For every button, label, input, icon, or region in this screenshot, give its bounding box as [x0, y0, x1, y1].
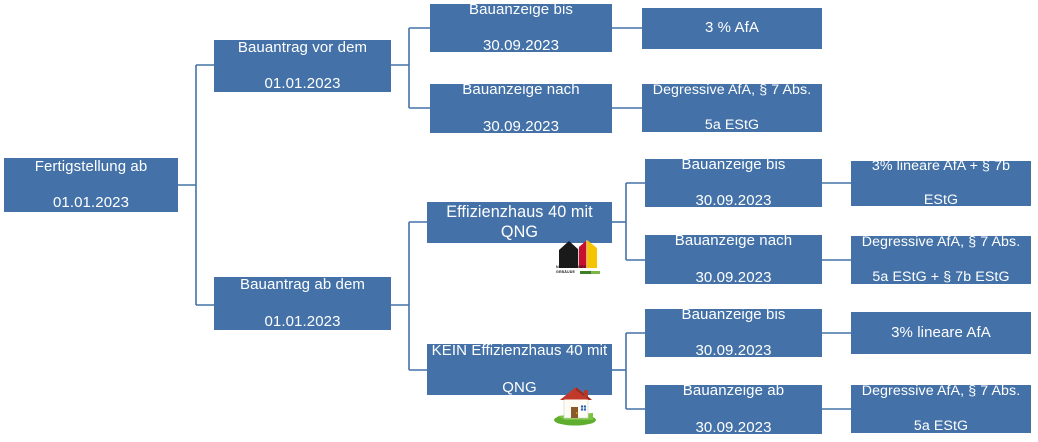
node-text-line1: Bauanzeige nach	[434, 81, 608, 99]
node-bauanzeige-nach-30-09-2023-a[interactable]: Bauanzeige nach 30.09.2023	[430, 84, 612, 133]
node-text-line2: 30.09.2023	[434, 118, 608, 136]
node-text-line1: Bauanzeige nach	[649, 232, 818, 250]
qng-logo-green-bar	[580, 271, 600, 274]
node-bauantrag-vor-dem-01-01-2023[interactable]: Bauantrag vor dem 01.01.2023	[214, 40, 391, 92]
node-text-line2: EStG	[855, 192, 1027, 209]
node-text-line2: 5a EStG	[646, 117, 818, 134]
node-text-line2: 01.01.2023	[8, 194, 174, 212]
node-result-degressive-afa-plus-7b-estg[interactable]: Degressive AfA, § 7 Abs. 5a EStG + § 7b …	[851, 236, 1031, 284]
node-fertigstellung-ab-2023[interactable]: Fertigstellung ab 01.01.2023	[4, 158, 178, 212]
node-text-line1: Degressive AfA, § 7 Abs.	[855, 383, 1027, 400]
node-text-line1: KEIN Effizienzhaus 40 mit	[431, 342, 608, 360]
node-text-line1: Degressive AfA, § 7 Abs.	[646, 82, 818, 99]
node-bauanzeige-ab-30-09-2023-c[interactable]: Bauanzeige ab 30.09.2023	[645, 385, 822, 434]
node-text-line1: Bauanzeige bis	[649, 306, 818, 324]
flowchart-canvas: Fertigstellung ab 01.01.2023 Bauantrag v…	[0, 0, 1038, 442]
qng-nachhaltiges-gebaeude-logo: NACHHALTIGES GEBÄUDE	[556, 234, 602, 274]
node-text-line1: Fertigstellung ab	[8, 158, 174, 176]
node-result-degressive-afa-7-abs-5a-estg-c[interactable]: Degressive AfA, § 7 Abs. 5a EStG	[851, 385, 1031, 433]
node-result-degressive-afa-7-abs-5a-estg-a[interactable]: Degressive AfA, § 7 Abs. 5a EStG	[642, 84, 822, 132]
node-text-line1: Bauanzeige ab	[649, 382, 818, 400]
node-bauantrag-ab-dem-01-01-2023[interactable]: Bauantrag ab dem 01.01.2023	[214, 277, 391, 330]
node-text: 3% lineare AfA	[855, 324, 1027, 342]
house-clipart-icon	[551, 382, 599, 426]
node-text-line1: Bauanzeige bis	[649, 156, 818, 174]
node-text-line2: 01.01.2023	[218, 313, 387, 331]
node-text-line1: Bauantrag vor dem	[218, 39, 387, 57]
node-text-line2: 30.09.2023	[649, 192, 818, 210]
node-bauanzeige-nach-30-09-2023-b[interactable]: Bauanzeige nach 30.09.2023	[645, 235, 822, 284]
node-result-3-prozent-lineare-afa-plus-7b-estg[interactable]: 3% lineare AfA + § 7b EStG	[851, 161, 1031, 206]
node-result-3-prozent-lineare-afa[interactable]: 3% lineare AfA	[851, 312, 1031, 354]
node-text-line1: Bauantrag ab dem	[218, 276, 387, 294]
node-text-line2: 01.01.2023	[218, 75, 387, 93]
node-text-line2: 30.09.2023	[649, 419, 818, 437]
node-text-line1: Bauanzeige bis	[434, 1, 608, 19]
node-text-line1: 3% lineare AfA + § 7b	[855, 158, 1027, 175]
node-text-line2: 30.09.2023	[649, 342, 818, 360]
node-bauanzeige-bis-30-09-2023-c[interactable]: Bauanzeige bis 30.09.2023	[645, 309, 822, 357]
node-text-line2: 5a EStG + § 7b EStG	[855, 269, 1027, 286]
node-text-line2: 30.09.2023	[649, 269, 818, 287]
node-bauanzeige-bis-30-09-2023-a[interactable]: Bauanzeige bis 30.09.2023	[430, 4, 612, 52]
node-bauanzeige-bis-30-09-2023-b[interactable]: Bauanzeige bis 30.09.2023	[645, 159, 822, 207]
node-text: 3 % AfA	[646, 19, 818, 37]
node-text-line1: Degressive AfA, § 7 Abs.	[855, 234, 1027, 251]
node-result-3-prozent-afa[interactable]: 3 % AfA	[642, 8, 822, 49]
node-text-line2: 30.09.2023	[434, 37, 608, 55]
house-clipart-svg	[551, 382, 599, 426]
node-text-line2: 5a EStG	[855, 418, 1027, 435]
